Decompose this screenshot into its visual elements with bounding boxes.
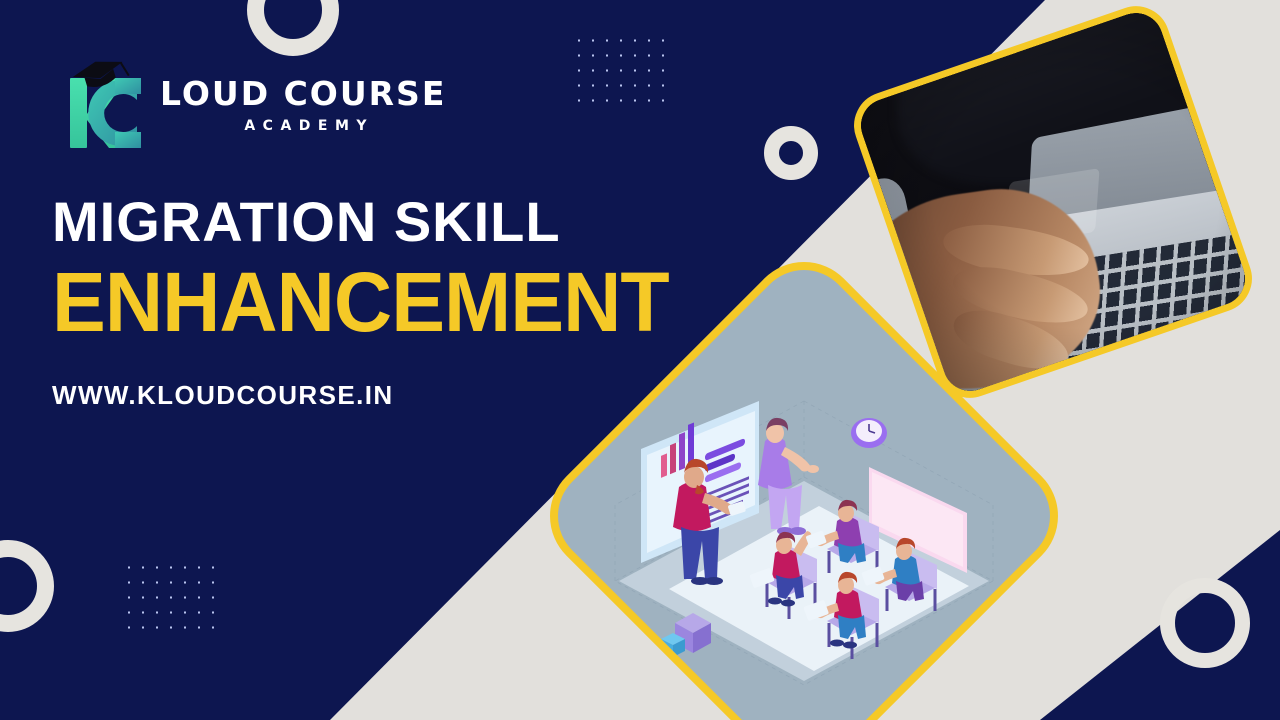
website-url[interactable]: WWW.KLOUDCOURSE.IN [52,380,652,411]
headline-line-2: ENHANCEMENT [52,260,628,346]
brand-name-sub: ACADEMY [160,119,446,133]
dot-grid-bottom [122,560,225,639]
ring-left-decoration [0,540,54,632]
ring-bottom-right-decoration [1160,578,1250,668]
kc-graduation-cap-logo-icon [52,58,164,154]
headline-line-1: MIGRATION SKILL [52,194,652,250]
ring-mid-decoration [764,126,818,180]
ring-top-decoration [247,0,339,56]
brand-logo[interactable]: LOUD COURSE ACADEMY [52,56,652,156]
brand-logo-wordmark: LOUD COURSE ACADEMY [160,77,446,135]
course-banner: LOUD COURSE ACADEMY MIGRATION SKILL ENHA… [0,0,1280,720]
brand-name-main: LOUD COURSE [160,77,446,110]
banner-content: LOUD COURSE ACADEMY MIGRATION SKILL ENHA… [52,56,652,411]
